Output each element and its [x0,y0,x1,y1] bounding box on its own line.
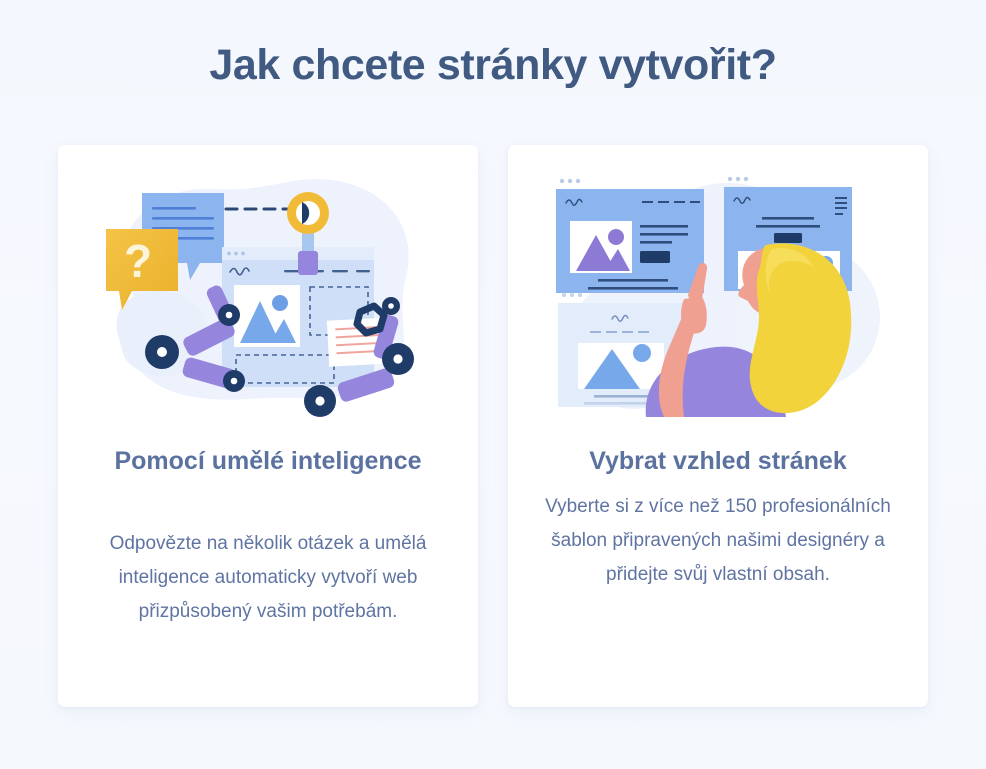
card-heading-ai: Pomocí umělé inteligence [92,442,444,480]
card-heading-templates: Vybrat vzhled stránek [542,442,894,480]
woman-choosing-template-illustration-svg [538,167,898,417]
page-root: Jak chcete stránky vytvořit? [0,0,986,769]
templates-illustration [508,167,928,427]
svg-text:?: ? [124,235,152,287]
ai-robot-arm-website-illustration-svg: ? [88,167,448,417]
option-card-templates[interactable]: Vybrat vzhled stránek Vyberte si z více … [508,145,928,707]
options-card-group: ? [58,145,928,707]
template-window-1 [556,179,704,293]
option-card-ai[interactable]: ? [58,145,478,707]
card-body-ai: Odpovězte na několik otázek a umělá inte… [88,527,448,629]
card-body-templates: Vyberte si z více než 150 profesionálníc… [538,490,898,592]
page-title: Jak chcete stránky vytvořit? [0,36,986,94]
ai-illustration: ? [58,167,478,427]
